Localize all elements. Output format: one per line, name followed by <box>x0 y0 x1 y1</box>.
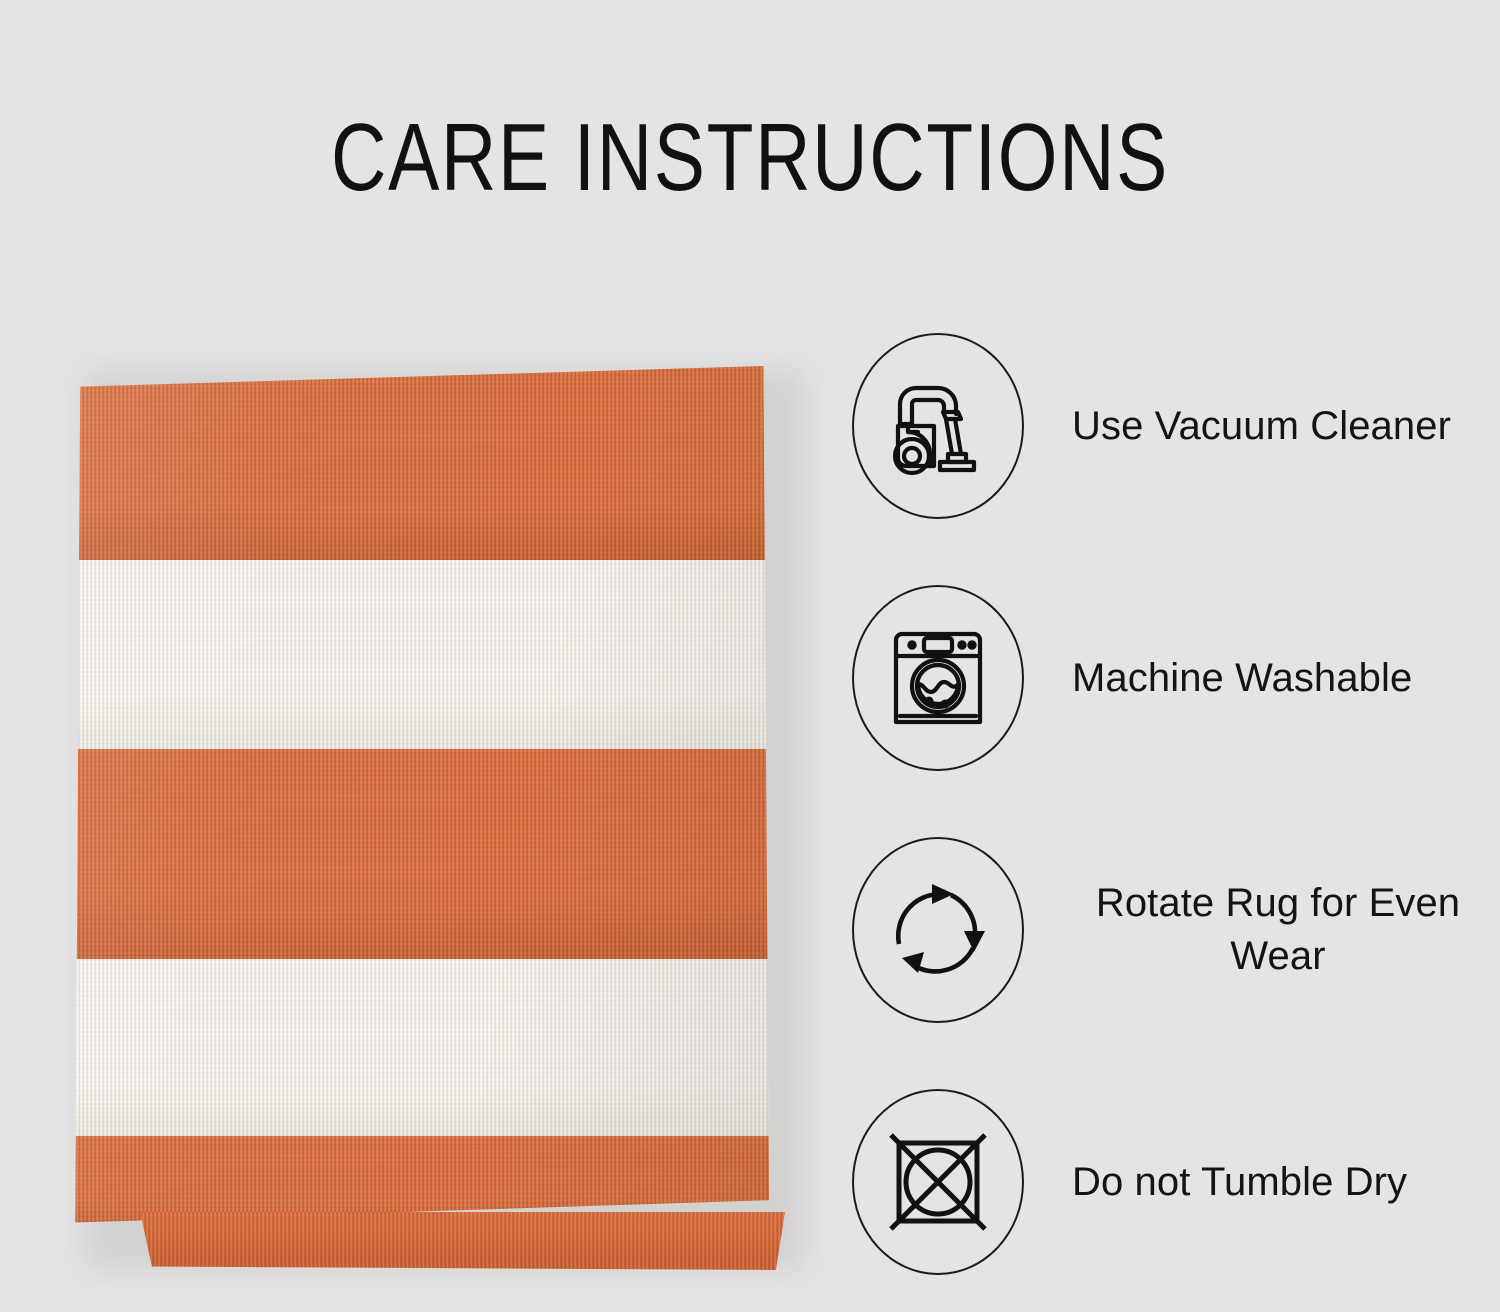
vacuum-cleaner-icon <box>852 333 1024 519</box>
instruction-row-machine-wash: Machine Washable <box>852 552 1492 804</box>
instruction-row-no-tumble-dry: Do not Tumble Dry <box>852 1056 1492 1308</box>
rug-folded-edge-fill <box>135 1212 785 1270</box>
rug-stripe <box>69 959 769 1135</box>
instruction-label-vacuum: Use Vacuum Cleaner <box>1072 400 1492 453</box>
instruction-label-no-tumble-dry: Do not Tumble Dry <box>1072 1156 1492 1209</box>
rotate-arrows-icon <box>852 837 1024 1023</box>
rug-stripe <box>69 366 769 560</box>
instruction-row-rotate: Rotate Rug for Even Wear <box>852 804 1492 1056</box>
washing-machine-icon <box>852 585 1024 771</box>
product-image <box>55 350 830 1280</box>
instruction-label-machine-wash: Machine Washable <box>1072 652 1492 705</box>
do-not-tumble-dry-icon <box>852 1089 1024 1275</box>
rug-stripe <box>69 749 769 960</box>
rug-stack <box>69 366 769 1226</box>
instruction-row-vacuum: Use Vacuum Cleaner <box>852 300 1492 552</box>
rug-stripe <box>69 560 769 749</box>
instruction-label-rotate: Rotate Rug for Even Wear <box>1072 877 1492 983</box>
care-instruction-list: Use Vacuum Cleaner <box>852 300 1492 1308</box>
rug-stripes <box>69 366 769 1226</box>
rug-folded-edge <box>135 1212 785 1270</box>
page-title: CARE INSTRUCTIONS <box>150 108 1350 209</box>
